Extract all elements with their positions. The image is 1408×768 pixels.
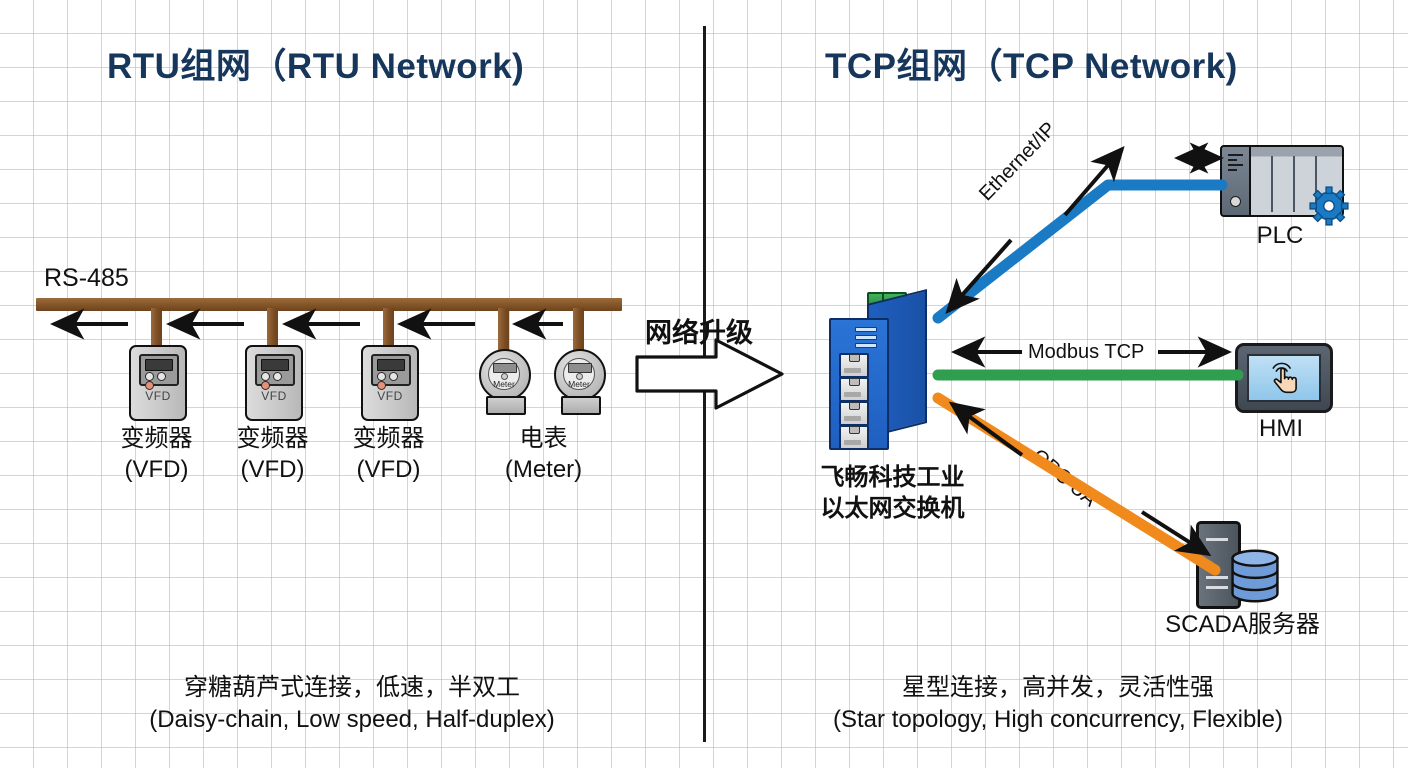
diagram-canvas: RTU组网（RTU Network) TCP组网（TCP Network) RS… bbox=[0, 0, 1408, 768]
label-cn: 电表 bbox=[520, 425, 568, 452]
device-vfd: VFD bbox=[129, 345, 187, 421]
database-icon bbox=[1226, 547, 1284, 605]
switch-rj45-port bbox=[839, 425, 869, 450]
vfd-display bbox=[145, 359, 173, 371]
device-label-meter: 电表 (Meter) bbox=[481, 423, 606, 485]
device-vfd: VFD bbox=[361, 345, 419, 421]
hmi-label: HMI bbox=[1235, 415, 1327, 443]
caption-cn: 穿糖葫芦式连接，低速，半双工 bbox=[184, 674, 520, 701]
device-label-vfd-2: 变频器 (VFD) bbox=[215, 423, 330, 485]
link-ethernet-ip bbox=[938, 185, 1222, 318]
meter-base bbox=[561, 396, 601, 415]
scada-label: SCADA服务器 bbox=[1135, 604, 1350, 639]
plc-status-led bbox=[1230, 196, 1241, 207]
device-meter: Meter bbox=[479, 349, 529, 423]
bus-drop-line bbox=[383, 308, 394, 346]
ethernet-ip-arrows bbox=[948, 149, 1220, 311]
rs485-bus-label: RS-485 bbox=[44, 264, 129, 293]
bus-drop-line bbox=[151, 308, 162, 346]
upgrade-arrow bbox=[637, 340, 782, 408]
right-panel-caption: 星型连接，高并发，灵活性强 (Star topology, High concu… bbox=[716, 672, 1400, 736]
label-cn: 变频器 bbox=[237, 425, 309, 452]
bus-drop-line bbox=[573, 308, 584, 350]
device-label-vfd-1: 变频器 (VFD) bbox=[99, 423, 214, 485]
plc-vent-bars bbox=[1228, 154, 1243, 174]
device-ethernet-switch bbox=[820, 292, 950, 452]
vfd-display bbox=[261, 359, 289, 371]
switch-rj45-port bbox=[839, 401, 869, 426]
switch-led-strip bbox=[855, 327, 879, 349]
switch-front-panel bbox=[829, 318, 889, 450]
meter-face: Meter bbox=[488, 358, 520, 390]
label-en: (VFD) bbox=[215, 454, 330, 485]
protocol-label-modbus-tcp: Modbus TCP bbox=[1028, 341, 1144, 364]
meter-face: Meter bbox=[563, 358, 595, 390]
bus-drop-line bbox=[267, 308, 278, 346]
vfd-keypad bbox=[371, 354, 411, 386]
switch-label: 飞畅科技工业 以太网交换机 bbox=[795, 462, 990, 524]
meter-register bbox=[568, 363, 592, 373]
meter-base bbox=[486, 396, 526, 415]
rs485-bus-bar bbox=[36, 298, 622, 311]
caption-cn: 星型连接，高并发，灵活性强 bbox=[902, 674, 1214, 701]
meter-body: Meter bbox=[554, 349, 606, 401]
switch-label-line1: 飞畅科技工业 bbox=[821, 464, 965, 491]
device-vfd: VFD bbox=[245, 345, 303, 421]
caption-en: (Star topology, High concurrency, Flexib… bbox=[833, 706, 1283, 733]
device-plc bbox=[1220, 145, 1340, 213]
meter-badge: Meter bbox=[564, 379, 594, 389]
label-en: (VFD) bbox=[99, 454, 214, 485]
vfd-keypad bbox=[255, 354, 295, 386]
vfd-buttons bbox=[145, 372, 173, 380]
switch-label-line2: 以太网交换机 bbox=[821, 495, 965, 522]
upgrade-label: 网络升级 bbox=[645, 311, 753, 350]
vfd-buttons bbox=[261, 372, 289, 380]
panel-divider bbox=[703, 26, 706, 742]
left-panel-caption: 穿糖葫芦式连接，低速，半双工 (Daisy-chain, Low speed, … bbox=[10, 672, 694, 736]
device-meter: Meter bbox=[554, 349, 604, 423]
caption-en: (Daisy-chain, Low speed, Half-duplex) bbox=[149, 706, 555, 733]
device-hmi bbox=[1235, 343, 1333, 413]
vfd-badge: VFD bbox=[247, 389, 301, 403]
switch-rj45-port bbox=[839, 353, 869, 378]
meter-body: Meter bbox=[479, 349, 531, 401]
vfd-badge: VFD bbox=[363, 389, 417, 403]
vfd-badge: VFD bbox=[131, 389, 185, 403]
bus-drop-line bbox=[498, 308, 509, 350]
meter-register bbox=[493, 363, 517, 373]
vfd-display bbox=[377, 359, 405, 371]
label-cn: 变频器 bbox=[353, 425, 425, 452]
meter-badge: Meter bbox=[489, 379, 519, 389]
device-scada-server bbox=[1196, 521, 1286, 603]
vfd-buttons bbox=[377, 372, 405, 380]
touch-hand-icon bbox=[1261, 358, 1307, 398]
label-cn: 变频器 bbox=[121, 425, 193, 452]
protocol-label-opc-ua: OPC UA bbox=[1027, 445, 1101, 512]
left-panel-title: RTU组网（RTU Network) bbox=[107, 38, 524, 89]
vfd-keypad bbox=[139, 354, 179, 386]
right-panel-title: TCP组网（TCP Network) bbox=[825, 38, 1238, 89]
plc-label: PLC bbox=[1220, 222, 1340, 250]
label-en: (Meter) bbox=[481, 454, 606, 485]
protocol-label-ethernet-ip: Ethernet/IP bbox=[975, 118, 1061, 206]
label-en: (VFD) bbox=[331, 454, 446, 485]
gear-icon bbox=[1308, 185, 1350, 227]
switch-rj45-port bbox=[839, 377, 869, 402]
device-label-vfd-3: 变频器 (VFD) bbox=[331, 423, 446, 485]
hmi-screen bbox=[1247, 354, 1321, 402]
